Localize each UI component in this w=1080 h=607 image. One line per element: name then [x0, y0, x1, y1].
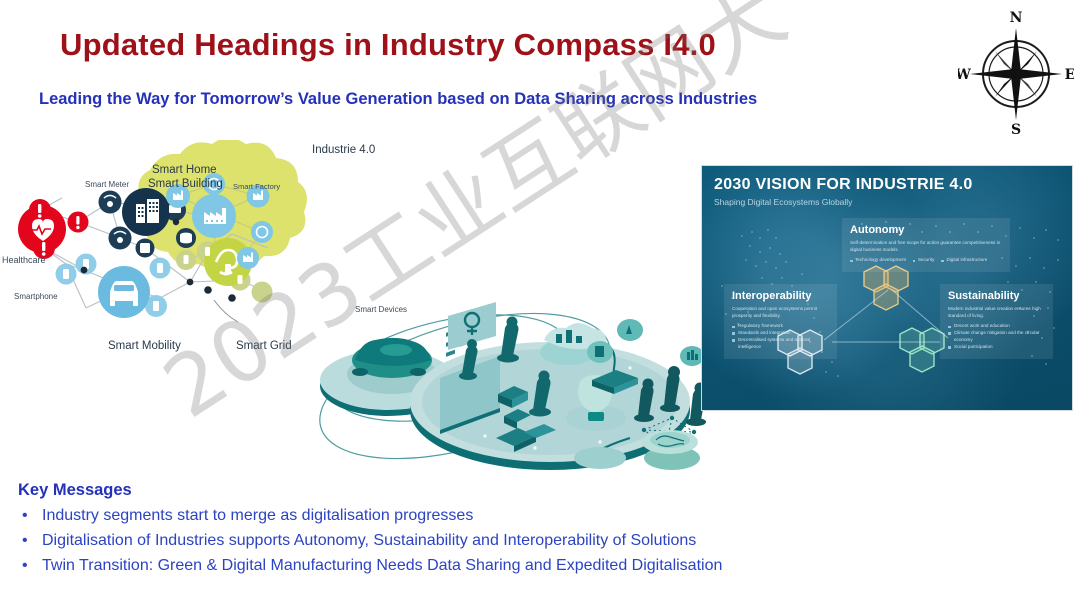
label-smartphone: Smartphone	[14, 292, 58, 301]
list-item: Climate change mitigation and the circul…	[948, 330, 1045, 344]
node-grid-small-d	[252, 282, 273, 303]
compass-east-label: E	[1065, 67, 1074, 83]
compass-south-label: S	[1011, 122, 1021, 136]
vision-card-sustainability: Sustainability Modern industrial value c…	[940, 284, 1053, 359]
list-item: Regulatory framework	[732, 323, 829, 330]
compass-west-label: W	[958, 67, 971, 83]
vision-card-interoperability: Interoperability Cooperation and open ec…	[724, 284, 837, 359]
list-item: Decent work and education	[948, 323, 1045, 330]
vision-2030-panel: 2030 VISION FOR INDUSTRIE 4.0 Shaping Di…	[701, 165, 1073, 411]
node-smart-building-hub	[122, 188, 170, 236]
iso-chip-disc	[642, 430, 700, 470]
list-item: Industry segments start to merge as digi…	[18, 503, 722, 528]
slide-canvas: Updated Headings in Industry Compass I4.…	[0, 0, 1080, 607]
compass-rose-icon: N S E W	[958, 6, 1074, 136]
list-item: Technology development	[850, 257, 906, 264]
page-subtitle: Leading the Way for Tomorrow’s Value Gen…	[39, 90, 757, 109]
vision-card-autonomy-body: Self-determination and free scope for ac…	[850, 240, 1002, 253]
iso-figure-standing	[497, 317, 519, 363]
list-item: Standards and integration	[732, 330, 829, 337]
list-item: Twin Transition: Green & Digital Manufac…	[18, 553, 722, 578]
digital-ecosystem-illustration	[300, 290, 720, 480]
vision-card-interoperability-body: Cooperation and open ecosystems permit p…	[732, 306, 829, 319]
vision-card-sustainability-body: Modern industrial value creation ensures…	[948, 306, 1045, 319]
label-smart-factory: Smart Factory	[233, 182, 280, 191]
label-smart-building: Smart Building	[148, 178, 223, 190]
list-item: Digital infrastructure	[941, 257, 987, 264]
label-smart-mobility: Smart Mobility	[108, 340, 181, 352]
vision-card-interoperability-heading: Interoperability	[732, 290, 829, 302]
page-title: Updated Headings in Industry Compass I4.…	[60, 27, 716, 63]
vision-card-autonomy-heading: Autonomy	[850, 224, 1002, 236]
list-item: Digitalisation of Industries supports Au…	[18, 528, 722, 553]
vision-card-interoperability-bullets: Regulatory framework Standards and integ…	[732, 323, 829, 351]
compass-north-label: N	[1010, 10, 1023, 26]
key-messages-heading: Key Messages	[18, 481, 132, 500]
label-smart-grid: Smart Grid	[236, 340, 292, 352]
list-item: Social participation	[948, 344, 1045, 351]
list-item: Decentralised systems and artificial int…	[732, 337, 829, 351]
vision-title: 2030 VISION FOR INDUSTRIE 4.0	[714, 176, 973, 194]
vision-card-autonomy: Autonomy Self-determination and free sco…	[842, 218, 1010, 272]
vision-subtitle: Shaping Digital Ecosystems Globally	[714, 197, 852, 207]
label-smart-home: Smart Home	[152, 164, 217, 176]
label-industrie-40: Industrie 4.0	[312, 144, 375, 156]
iso-autonomous-car	[352, 338, 432, 378]
key-messages-list: Industry segments start to merge as digi…	[18, 503, 722, 578]
label-smart-meter: Smart Meter	[85, 180, 129, 189]
vision-card-sustainability-heading: Sustainability	[948, 290, 1045, 302]
label-healthcare: Healthcare	[2, 255, 46, 265]
vision-card-autonomy-bullets: Technology development Security Digital …	[850, 257, 1002, 264]
list-item: Security	[913, 257, 935, 264]
vision-card-sustainability-bullets: Decent work and education Climate change…	[948, 323, 1045, 351]
